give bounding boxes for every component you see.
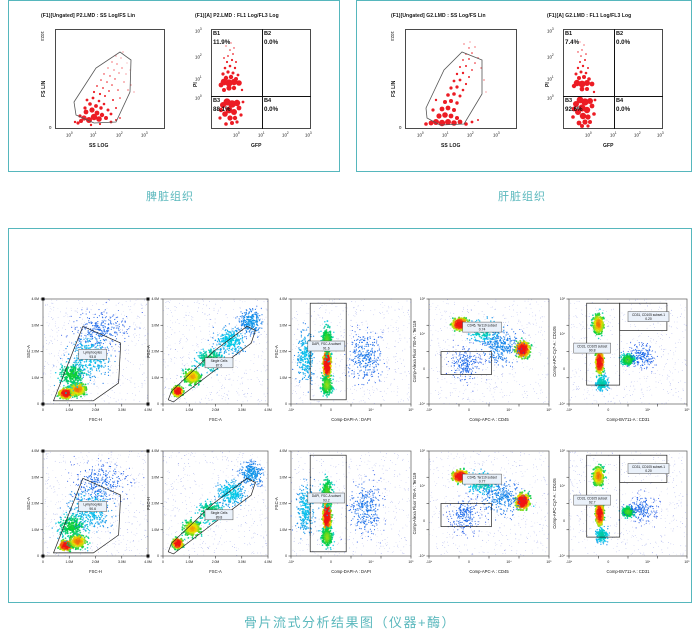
y-tick-label: 2.0M [279,350,287,354]
y-tick-label: 4.0M [151,297,159,301]
y-tick-label: 10⁵ [560,297,566,301]
x-tick-label: 4.0M [264,560,272,564]
y-tick-label: 4.0M [151,449,159,453]
x-axis-label: FSC-A [209,569,222,574]
x-tick-label: 0 [607,408,609,412]
gate-label-text: Lymphocytes [83,351,102,355]
ytick-0-liver: 0 [399,125,401,130]
gate-label-text: CD31, CD105 subset [577,496,607,500]
x-tick-label: 1.0M [186,560,194,564]
y-tick-label: -10⁴ [419,554,426,558]
xaxis-label-spleen-quad: GFP [251,143,262,149]
y-tick-label: -10⁴ [419,402,426,406]
plot-liver-sslog-fslin [405,29,517,129]
x-tick-label: 10⁵ [684,408,690,412]
x-tick-label: 10⁵ [408,408,414,412]
y-tick-label: 0 [37,554,39,558]
gate-value-text: 93.2 [323,499,330,503]
x-tick-label: -10⁴ [426,560,433,564]
y-axis-label: SSC-A [26,345,31,358]
quad-label-b4: B4 [264,98,271,104]
quad-value-b1: 7.4% [565,39,579,46]
x-tick-label: 4.0M [144,560,152,564]
x-tick-label: 0 [330,408,332,412]
y-tick-label: 10⁴ [420,484,426,488]
plot-title-liver-quad: (F1)[A] G2.LMD : FL1 Log/FL3 Log [547,13,631,19]
x-tick-label: 0 [42,408,44,412]
gate-label-text: DAPI, FSC-A subset [312,494,341,498]
panel-liver: (F1)[Ungated] G2.LMD : SS Log/FS Lin [356,0,692,172]
y-axis-label: Comp-Alexa Fluor 700-A : Ter119 [412,472,417,534]
x-tick-label: -10⁴ [566,408,573,412]
y-tick-label: 10⁵ [420,297,426,301]
x-tick-label: 0 [162,408,164,412]
plot-frame [291,451,411,556]
x-axis-label: Comp-APC-A : CD45 [469,417,509,422]
plot-title-spleen-scatter: (F1)[Ungated] P2.LMD : SS Log/FS Lin [41,13,135,19]
x-tick-label: -10⁴ [288,560,295,564]
quad-hline [563,96,663,97]
quad-label-b4: B4 [616,98,623,104]
yaxis-label-liver-quad: PI [545,82,551,87]
x-axis-label: Comp-DAPI-A : DAPI [331,417,371,422]
y-tick-label: 0 [285,554,287,558]
y-tick-label: 4.0M [31,449,39,453]
x-tick-label: 0 [468,408,470,412]
x-tick-label: 0 [607,560,609,564]
gate-value-text: 0.77 [479,480,486,484]
y-tick-label: 4.0M [279,297,287,301]
y-tick-label: 4.0M [279,449,287,453]
y-tick-label: 0 [563,367,565,371]
x-axis-label: Comp-DAPI-A : DAPI [331,569,371,574]
gate-value-text: 91.6 [323,347,330,351]
quad-vline [262,29,263,129]
plot-title-liver-scatter: (F1)[Ungated] G2.LMD : SS Log/FS Lin [391,13,486,19]
x-tick-label: 0 [162,560,164,564]
y-tick-label: 0 [157,402,159,406]
y-axis-label: Comp-APC-Cy7-A : CD105 [552,326,557,377]
y-tick-label: 2.0M [151,502,159,506]
x-tick-label: 3.0M [238,560,246,564]
quad-value-b2: 0.0% [264,39,278,46]
caption-bone-flow: 骨片流式分析结果图（仪器+酶） [0,612,700,631]
bone-flow-plots: 01.0M2.0M3.0M4.0M01.0M2.0M3.0M4.0MFSC-HS… [9,229,693,604]
quad-value-b2: 0.0% [616,39,630,46]
x-tick-label: 10⁵ [546,560,552,564]
y-tick-label: 1.0M [31,528,39,532]
scatter-canvas [406,30,517,129]
quad-label-b2: B2 [264,31,271,37]
x-tick-label: 1.0M [66,408,74,412]
x-tick-label: 10⁴ [645,560,651,564]
x-axis-label: FSC-H [89,417,102,422]
x-axis-label: FSC-H [89,569,102,574]
y-axis-label: FSC-A [274,345,279,358]
x-tick-label: 10⁵ [546,408,552,412]
y-tick-label: 2.0M [151,350,159,354]
gate-label-text: Single Cells [211,359,228,363]
ytick-1023: 1023 [40,31,45,41]
gate-label-text: CD31, CD105 subset [577,344,607,348]
figure-root: (F1)[Ungated] P2.LMD : SS Log/FS Lin [0,0,700,642]
quad-value-b4: 0.0% [616,106,630,113]
quad-value-b1: 11.9% [213,39,230,46]
panel-spleen: (F1)[Ungated] P2.LMD : SS Log/FS Lin [8,0,340,172]
y-tick-label: 1.0M [31,376,39,380]
y-tick-label: 10⁵ [420,449,426,453]
x-tick-label: -10⁴ [566,560,573,564]
y-axis-label: Comp-Alexa Fluor 700-A : Ter119 [412,320,417,382]
plot-spleen-sslog-fslin [55,29,165,129]
caption-liver: 肝脏组织 [498,188,546,204]
gate-value-text: 90.6 [89,507,96,511]
y-tick-label: 10⁵ [560,449,566,453]
panel-bone-flow: 01.0M2.0M3.0M4.0M01.0M2.0M3.0M4.0MFSC-HS… [8,228,692,603]
x-tick-label: 3.0M [238,408,246,412]
y-tick-label: 0 [563,519,565,523]
y-tick-label: 1.0M [279,528,287,532]
y-tick-label: -10⁴ [559,402,566,406]
gate-label-text: CD31, CD105 subset-1 [632,313,665,317]
caption-spleen: 脾脏组织 [146,188,194,204]
y-tick-label: 0 [157,554,159,558]
quad-vline [614,29,615,129]
y-tick-label: 2.0M [31,502,39,506]
y-tick-label: 1.0M [151,376,159,380]
x-tick-label: 1.0M [186,408,194,412]
y-axis-label: FSC-A [146,345,151,358]
y-tick-label: 4.0M [31,297,39,301]
quad-label-b1: B1 [213,31,220,37]
quad-value-b3: 88.1% [213,106,231,113]
x-axis-label: FSC-A [209,417,222,422]
gate-label-text: CD45, Ter119 subset [467,475,497,479]
gate-polygon [426,52,482,125]
x-tick-label: 2.0M [92,408,100,412]
scatter-canvas [56,30,165,129]
x-axis-label: Comp-BV711-A : CD31 [607,417,651,422]
quad-label-b3: B3 [213,98,220,104]
gate-label-text: Single Cells [211,511,228,515]
xaxis-label-liver-scatter: SS LOG [441,143,461,149]
yaxis-label-spleen-quad: PI [193,82,199,87]
y-axis-label: SSC-A [26,497,31,510]
x-tick-label: 10⁴ [368,408,374,412]
y-tick-label: 10⁴ [420,332,426,336]
y-axis-label: FSC-H [146,497,151,510]
x-axis-label: Comp-BV711-A : CD31 [607,569,651,574]
quad-label-b3: B3 [565,98,572,104]
quad-value-b4: 0.0% [264,106,278,113]
y-axis-label: Comp-APC-Cy7-A : CD105 [552,478,557,529]
x-tick-label: 4.0M [264,408,272,412]
gate-value-text: 89.8 [216,515,223,519]
x-tick-label: 10⁴ [506,560,512,564]
ytick-0: 0 [49,125,51,130]
y-tick-label: 2.0M [31,350,39,354]
y-tick-label: 10⁴ [560,484,566,488]
y-tick-label: 0 [37,402,39,406]
gate-value-text: 92.7 [589,501,596,505]
y-axis-label: FSC-A [274,497,279,510]
y-tick-label: 2.0M [279,502,287,506]
x-tick-label: -10⁴ [288,408,295,412]
y-tick-label: 3.0M [279,475,287,479]
gate-label-text: CD31, CD105 subset-1 [632,465,665,469]
x-tick-label: 10⁴ [368,560,374,564]
x-tick-label: 10⁴ [645,408,651,412]
gate-value-text: 87.6 [216,363,223,367]
y-tick-label: 0 [423,367,425,371]
quad-value-b3: 92.6% [565,106,583,113]
gate-value-text: 93.8 [89,355,96,359]
xaxis-label-spleen-scatter: SS LOG [89,143,109,149]
y-tick-label: -10⁴ [559,554,566,558]
plot-title-spleen-quad: (F1)[A] P2.LMD : FL1 Log/FL3 Log [195,13,279,19]
gate-label-text: CD45, Ter119 subset [467,323,497,327]
x-tick-label: 10⁵ [408,560,414,564]
y-tick-label: 1.0M [279,376,287,380]
x-tick-label: 3.0M [118,408,126,412]
y-tick-label: 3.0M [31,324,39,328]
x-tick-label: 0 [42,560,44,564]
x-tick-label: 0 [468,560,470,564]
y-tick-label: 3.0M [151,324,159,328]
x-tick-label: 10⁵ [684,560,690,564]
gate-value-text: 0.74 [479,328,486,332]
ytick-1023-liver: 1023 [390,31,395,41]
gate-label-text: Lymphocytes [83,503,102,507]
x-tick-label: -10⁴ [426,408,433,412]
x-axis-label: Comp-APC-A : CD45 [469,569,509,574]
y-tick-label: 1.0M [151,528,159,532]
y-tick-label: 3.0M [279,324,287,328]
y-tick-label: 0 [285,402,287,406]
plot-frame [291,299,411,404]
gate-label-text: DAPI, FSC-A subset [312,342,341,346]
quad-hline [211,96,311,97]
y-tick-label: 0 [423,519,425,523]
yaxis-label-spleen-scatter: FS LIN [41,81,47,97]
x-tick-label: 2.0M [92,560,100,564]
x-tick-label: 2.0M [212,408,220,412]
y-tick-label: 10⁴ [560,332,566,336]
quad-label-b2: B2 [616,31,623,37]
yaxis-label-liver-scatter: FS LIN [391,81,397,97]
x-tick-label: 1.0M [66,560,74,564]
gate-value-text: 90.8 [589,349,596,353]
x-tick-label: 0 [330,560,332,564]
x-tick-label: 3.0M [118,560,126,564]
x-tick-label: 4.0M [144,408,152,412]
x-tick-label: 10⁴ [506,408,512,412]
x-tick-label: 2.0M [212,560,220,564]
gate-value-text: 0.20 [645,469,652,473]
xaxis-label-liver-quad: GFP [603,143,614,149]
y-tick-label: 3.0M [151,475,159,479]
quad-label-b1: B1 [565,31,572,37]
gate-value-text: 0.20 [645,317,652,321]
y-tick-label: 3.0M [31,475,39,479]
